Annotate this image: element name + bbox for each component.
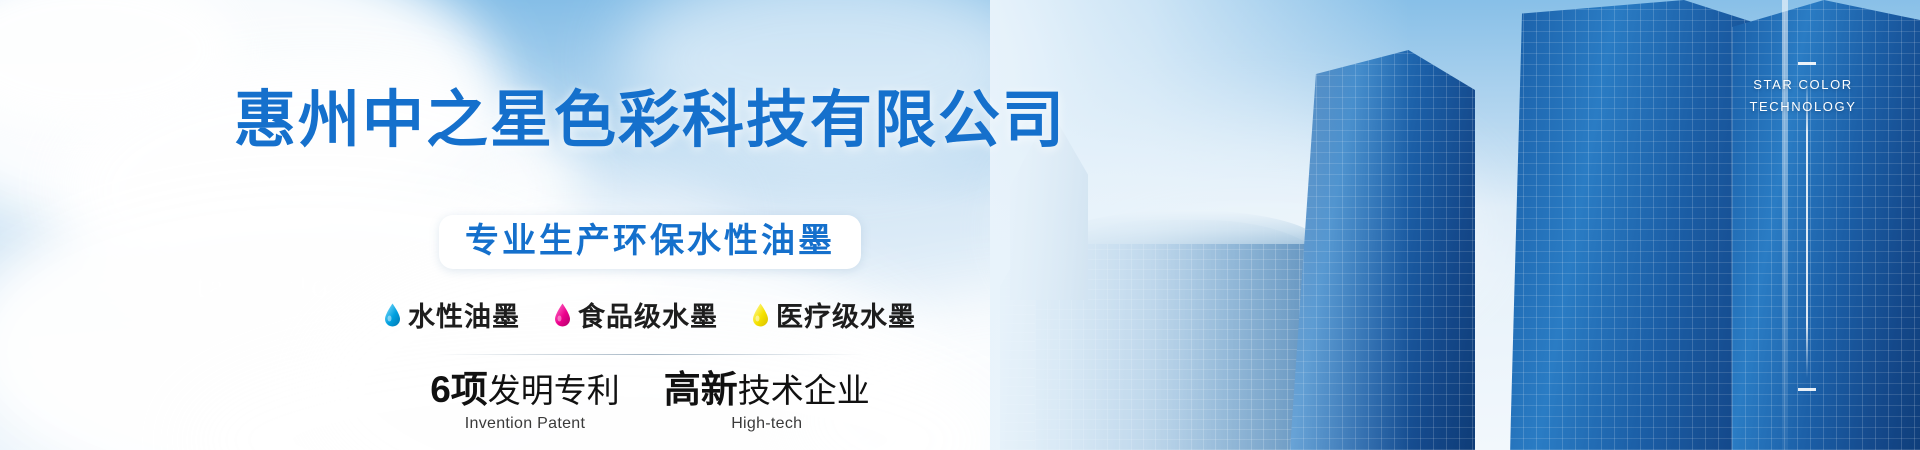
badge-invention-patent: 6项发明专利 Invention Patent <box>430 371 620 433</box>
company-title: 惠州中之星色彩科技有限公司 <box>234 90 1066 152</box>
badge-rest-text: 发明专利 <box>488 372 620 409</box>
badge-english-text: Invention Patent <box>430 415 620 433</box>
building-shape <box>1732 0 1920 450</box>
building-highlight-edge <box>1782 0 1788 450</box>
facade-seam <box>1806 78 1808 378</box>
subtitle-text: 专业生产环保水性油墨 <box>465 224 835 258</box>
feature-item: 水性油墨 <box>384 295 520 334</box>
feature-label: 水性油墨 <box>408 295 520 334</box>
facade-tick-top <box>1798 62 1816 65</box>
feature-label: 医疗级水墨 <box>776 295 916 334</box>
badge-rest-text: 技术企业 <box>738 372 870 409</box>
badge-english-text: High-tech <box>664 415 870 433</box>
water-drop-icon <box>752 303 769 327</box>
subtitle-pill: 专业生产环保水性油墨 <box>439 215 861 269</box>
feature-list: 水性油墨 食品级水墨 <box>384 295 916 334</box>
feature-item: 医疗级水墨 <box>752 295 916 334</box>
corner-mark-line1: STAR COLOR <box>1728 74 1878 96</box>
badge-strong-text: 6项 <box>430 369 488 410</box>
company-banner: Star Color STAR COLOR TECHNOLOGY 惠州中之星色彩… <box>0 0 1920 450</box>
facade-tick-bottom <box>1798 388 1816 391</box>
badge-high-tech: 高新技术企业 High-tech <box>664 371 870 433</box>
banner-content: 惠州中之星色彩科技有限公司 专业生产环保水性油墨 水性油墨 <box>0 0 1300 450</box>
badge-chinese-text: 高新技术企业 <box>664 371 870 410</box>
water-drop-icon <box>554 303 571 327</box>
water-drop-icon <box>384 303 401 327</box>
star-color-technology-mark: STAR COLOR TECHNOLOGY <box>1728 74 1878 118</box>
feature-label: 食品级水墨 <box>578 295 718 334</box>
badge-strong-text: 高新 <box>664 369 738 410</box>
feature-item: 食品级水墨 <box>554 295 718 334</box>
credential-badges: 6项发明专利 Invention Patent 高新技术企业 High-tech <box>430 371 870 433</box>
section-divider <box>435 354 865 355</box>
badge-chinese-text: 6项发明专利 <box>430 371 620 410</box>
corner-mark-line2: TECHNOLOGY <box>1728 96 1878 118</box>
